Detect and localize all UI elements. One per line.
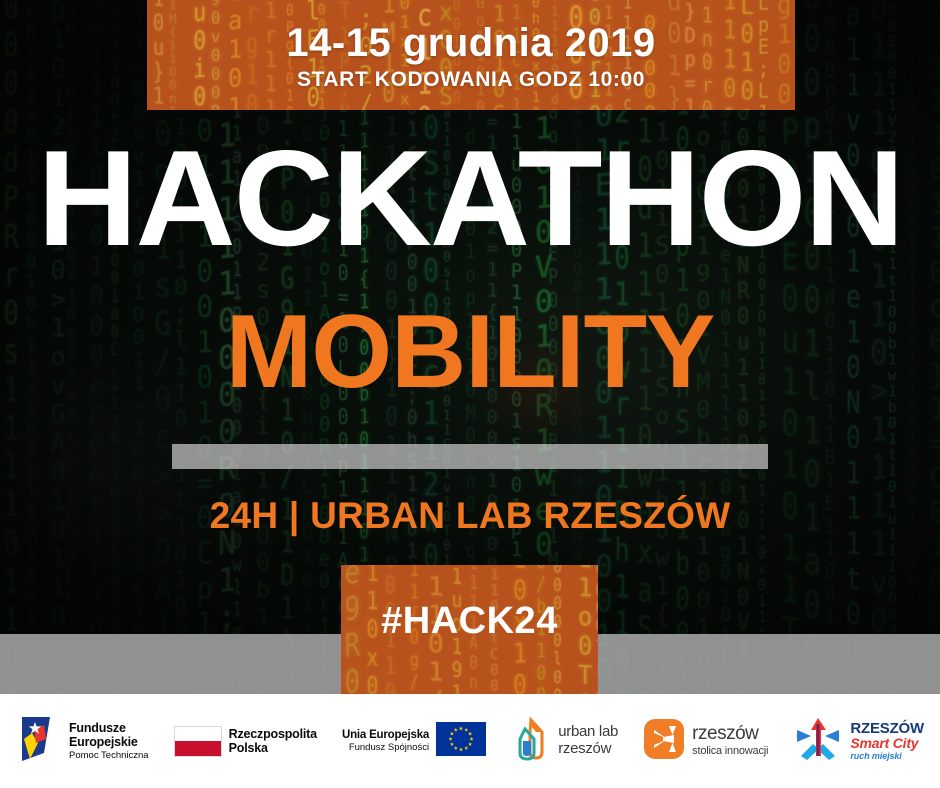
polish-flag-icon [174, 726, 222, 757]
rzeszow-arrow-icon [643, 718, 685, 765]
page-subtitle: MOBILITY [0, 300, 940, 404]
poster: 10110000dPRr0s11110110tAS10/0110v10LRi11… [0, 0, 940, 788]
smart-city-line2: Smart City [850, 736, 924, 751]
fundusze-europejskie-title2: Europejskie [69, 735, 149, 749]
hashtag-text: #HACK24 [381, 600, 558, 643]
smart-city-line1: RZESZÓW [850, 721, 924, 736]
eu-flag-icon [436, 722, 486, 761]
fundusze-europejskie-icon [16, 713, 62, 770]
urban-lab-line1: urban lab [558, 724, 618, 741]
event-date: 14-15 grudnia 2019 [286, 22, 655, 64]
date-banner: 110u}100101M{}100n1RV10D1u0i011111r1s0v0… [147, 0, 795, 110]
logo-unia-europejska: Unia Europejska Fundusz Spójności [342, 722, 486, 761]
page-title: HACKATHON [0, 130, 940, 266]
sponsor-logo-bar: Fundusze Europejskie Pomoc Techniczna Rz… [0, 694, 940, 788]
rzeszow-line1: rzeszów [692, 724, 768, 743]
rzeczpospolita-title: Rzeczpospolita [229, 727, 317, 741]
smart-city-line3: ruch miejski [850, 751, 924, 761]
logo-rzeszow-stolica-innowacji: rzeszów stolica innowacji [643, 718, 768, 765]
urban-lab-line2: rzeszów [558, 741, 618, 758]
logo-fundusze-europejskie: Fundusze Europejskie Pomoc Techniczna [16, 713, 149, 770]
smart-city-arrows-icon [793, 716, 843, 767]
divider-bar [172, 444, 768, 469]
logo-rzeszow-smart-city: RZESZÓW Smart City ruch miejski [793, 716, 924, 767]
logo-rzeczpospolita-polska: Rzeczpospolita Polska [174, 726, 317, 757]
event-start-time: START KODOWANIA GODZ 10:00 [297, 68, 645, 92]
unia-europejska-title: Unia Europejska [342, 729, 429, 742]
fundusze-europejskie-subtitle: Pomoc Techniczna [69, 751, 149, 762]
unia-europejska-subtitle: Fundusz Spójności [342, 743, 429, 754]
urban-lab-drop-icon [511, 715, 551, 768]
hashtag-box: s>e9R0011oP110x001011oc0G11000l111{0g/10… [341, 565, 598, 694]
rzeczpospolita-title2: Polska [229, 741, 317, 755]
logo-urban-lab-rzeszow: urban lab rzeszów [511, 715, 618, 768]
venue-line: 24H | URBAN LAB RZESZÓW [0, 495, 940, 537]
fundusze-europejskie-title: Fundusze [69, 721, 149, 735]
rzeszow-line2: stolica innowacji [692, 745, 768, 757]
